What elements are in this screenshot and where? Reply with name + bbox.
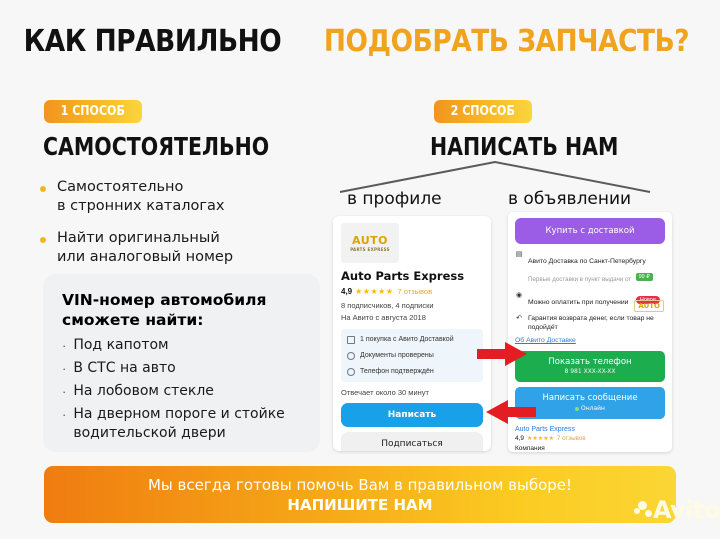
section-one-bullet-list: Самостоятельно в стронних каталогах Найт… <box>40 178 315 280</box>
page-title-black: КАК ПРАВИЛЬНО <box>24 24 282 59</box>
section-one-badge-label: 1 СПОСОБ <box>61 104 125 119</box>
refund-feature-label: Гарантия возврата денег, если товар не п… <box>528 314 665 332</box>
advert-seller-type: Компания <box>515 444 665 452</box>
seller-followers: 8 подписчиков, 4 подписки <box>341 300 483 311</box>
seller-since: На Авито с августа 2018 <box>341 312 483 323</box>
bullet-dot-icon <box>40 186 46 192</box>
arrow-right-icon <box>477 340 529 368</box>
list-item: Найти оригинальный или аналоговый номер <box>40 229 315 267</box>
trust-badge-label: Документы проверены <box>360 350 434 361</box>
star-icon: ★★★★★ <box>355 287 393 296</box>
seller-name: Auto Parts Express <box>341 269 483 283</box>
profile-card: AUTO PARTS EXPRESS Auto Parts Express 4,… <box>333 216 491 451</box>
list-item: ▤ Авито Доставка по Санкт-Петербургу Пер… <box>515 250 665 286</box>
bullet-dot-icon: · <box>62 336 66 355</box>
seller-logo-line1: AUTO <box>352 234 388 247</box>
list-item: Документы проверены <box>347 350 477 361</box>
box-icon <box>347 336 355 344</box>
trust-badge-list: 1 покупка с Авито Доставкой Документы пр… <box>341 329 483 382</box>
bullet-dot-icon: · <box>62 405 66 424</box>
wallet-icon: ◉ <box>515 292 523 300</box>
seller-logo-line2: PARTS EXPRESS <box>350 247 390 252</box>
cta-banner-line2: НАПИШИТЕ НАМ <box>287 495 432 515</box>
list-item: 1 покупка с Авито Доставкой <box>347 334 477 345</box>
write-message-label: Написать сообщение <box>515 393 665 404</box>
vin-info-card: VIN-номер автомобиля сможете найти: · По… <box>43 274 320 452</box>
check-circle-icon <box>347 368 355 376</box>
cta-banner: Мы всегда готовы помочь Вам в правильном… <box>44 466 676 523</box>
write-message-button[interactable]: Написать сообщение Онлайн <box>515 387 665 419</box>
payment-feature-label: Можно оплатить при получении <box>528 299 628 306</box>
reply-time: Отвечает около 30 минут <box>341 388 483 397</box>
write-message-button[interactable]: Написать <box>341 403 483 427</box>
page-title: КАК ПРАВИЛЬНО ПОДОБРАТЬ ЗАПЧАСТЬ? <box>0 24 720 59</box>
list-item: Самостоятельно в стронних каталогах <box>40 178 315 216</box>
reviews-link[interactable]: 7 отзывов <box>397 287 432 296</box>
avito-wordmark: Avito <box>653 496 720 524</box>
section-one-badge: 1 СПОСОБ <box>44 100 142 123</box>
list-item: · На дверном пороге и стойке водительско… <box>62 405 303 443</box>
return-icon: ↶ <box>515 315 523 323</box>
list-item: Телефон подтверждён <box>347 366 477 377</box>
online-status: Онлайн <box>515 404 665 413</box>
advert-seller-name[interactable]: Auto Parts Express <box>515 426 665 433</box>
delivery-feature-label: Авито Доставка по Санкт-Петербургу <box>528 258 646 265</box>
trust-badge-label: Телефон подтверждён <box>360 366 434 377</box>
poster-root: КАК ПРАВИЛЬНО ПОДОБРАТЬ ЗАПЧАСТЬ? 1 СПОС… <box>0 0 720 539</box>
bullet-text: Найти оригинальный или аналоговый номер <box>57 229 233 267</box>
reviews-link[interactable]: 7 отзывов <box>557 435 586 442</box>
check-circle-icon <box>347 352 355 360</box>
vin-item-text: В СТС на авто <box>73 359 175 378</box>
phone-number: 8 981 XXX-XX-XX <box>515 368 665 376</box>
avito-watermark: Avito <box>630 487 720 532</box>
buy-with-delivery-button[interactable]: Купить с доставкой <box>515 218 665 244</box>
rating-value: 4,9 <box>515 435 524 442</box>
seller-logo: AUTO PARTS EXPRESS <box>341 223 399 263</box>
bullet-dot-icon: · <box>62 382 66 401</box>
list-item: · В СТС на авто <box>62 359 303 378</box>
vin-item-text: На лобовом стекле <box>73 382 214 401</box>
online-status-label: Онлайн <box>581 405 605 412</box>
delivery-feature-sub: Первые доставки в пункт выдачи от <box>528 276 631 283</box>
truck-icon: ▤ <box>515 251 523 259</box>
vin-card-title: VIN-номер автомобиля сможете найти: <box>62 290 303 330</box>
section-two-badge-label: 2 СПОСОБ <box>451 104 515 119</box>
show-phone-button[interactable]: Показать телефон 8 981 XXX-XX-XX <box>515 351 665 382</box>
cta-banner-line1: Мы всегда готовы помочь Вам в правильном… <box>148 475 572 495</box>
seller-rating: 4,9 ★★★★★ 7 отзывов <box>341 287 483 296</box>
avito-dots-icon <box>634 501 651 519</box>
bullet-text: Самостоятельно в стронних каталогах <box>57 178 224 216</box>
section-one-title: САМОСТОЯТЕЛЬНО <box>43 132 269 161</box>
section-two-badge: 2 СПОСОБ <box>434 100 532 123</box>
online-dot-icon <box>575 407 579 411</box>
list-item: ↶ Гарантия возврата денег, если товар не… <box>515 314 665 332</box>
about-delivery-link[interactable]: Об Авито Доставке <box>515 337 665 344</box>
sub-label-advert: в объявлении <box>508 189 631 209</box>
list-item: · На лобовом стекле <box>62 382 303 401</box>
section-two-title: НАПИСАТЬ НАМ <box>430 132 618 161</box>
bullet-dot-icon: · <box>62 359 66 378</box>
advert-seller-rating: 4,9 ★★★★★ 7 отзывов <box>515 435 665 442</box>
page-title-orange: ПОДОБРАТЬ ЗАПЧАСТЬ? <box>324 24 689 59</box>
bullet-dot-icon <box>40 237 46 243</box>
rating-value: 4,9 <box>341 287 352 296</box>
seller-mini-logo: AUTO <box>634 300 664 312</box>
star-icon: ★★★★★ <box>527 435 554 442</box>
arrow-left-icon <box>484 398 536 426</box>
vin-item-text: На дверном пороге и стойке водительской … <box>73 405 284 443</box>
show-phone-label: Показать телефон <box>515 357 665 368</box>
subscribe-button[interactable]: Подписаться <box>341 432 483 451</box>
trust-badge-label: 1 покупка с Авито Доставкой <box>360 334 454 345</box>
price-tag: 99 ₽ <box>636 273 653 281</box>
list-item: · Под капотом <box>62 336 303 355</box>
sub-label-profile: в профиле <box>347 189 442 209</box>
vin-item-text: Под капотом <box>73 336 168 355</box>
